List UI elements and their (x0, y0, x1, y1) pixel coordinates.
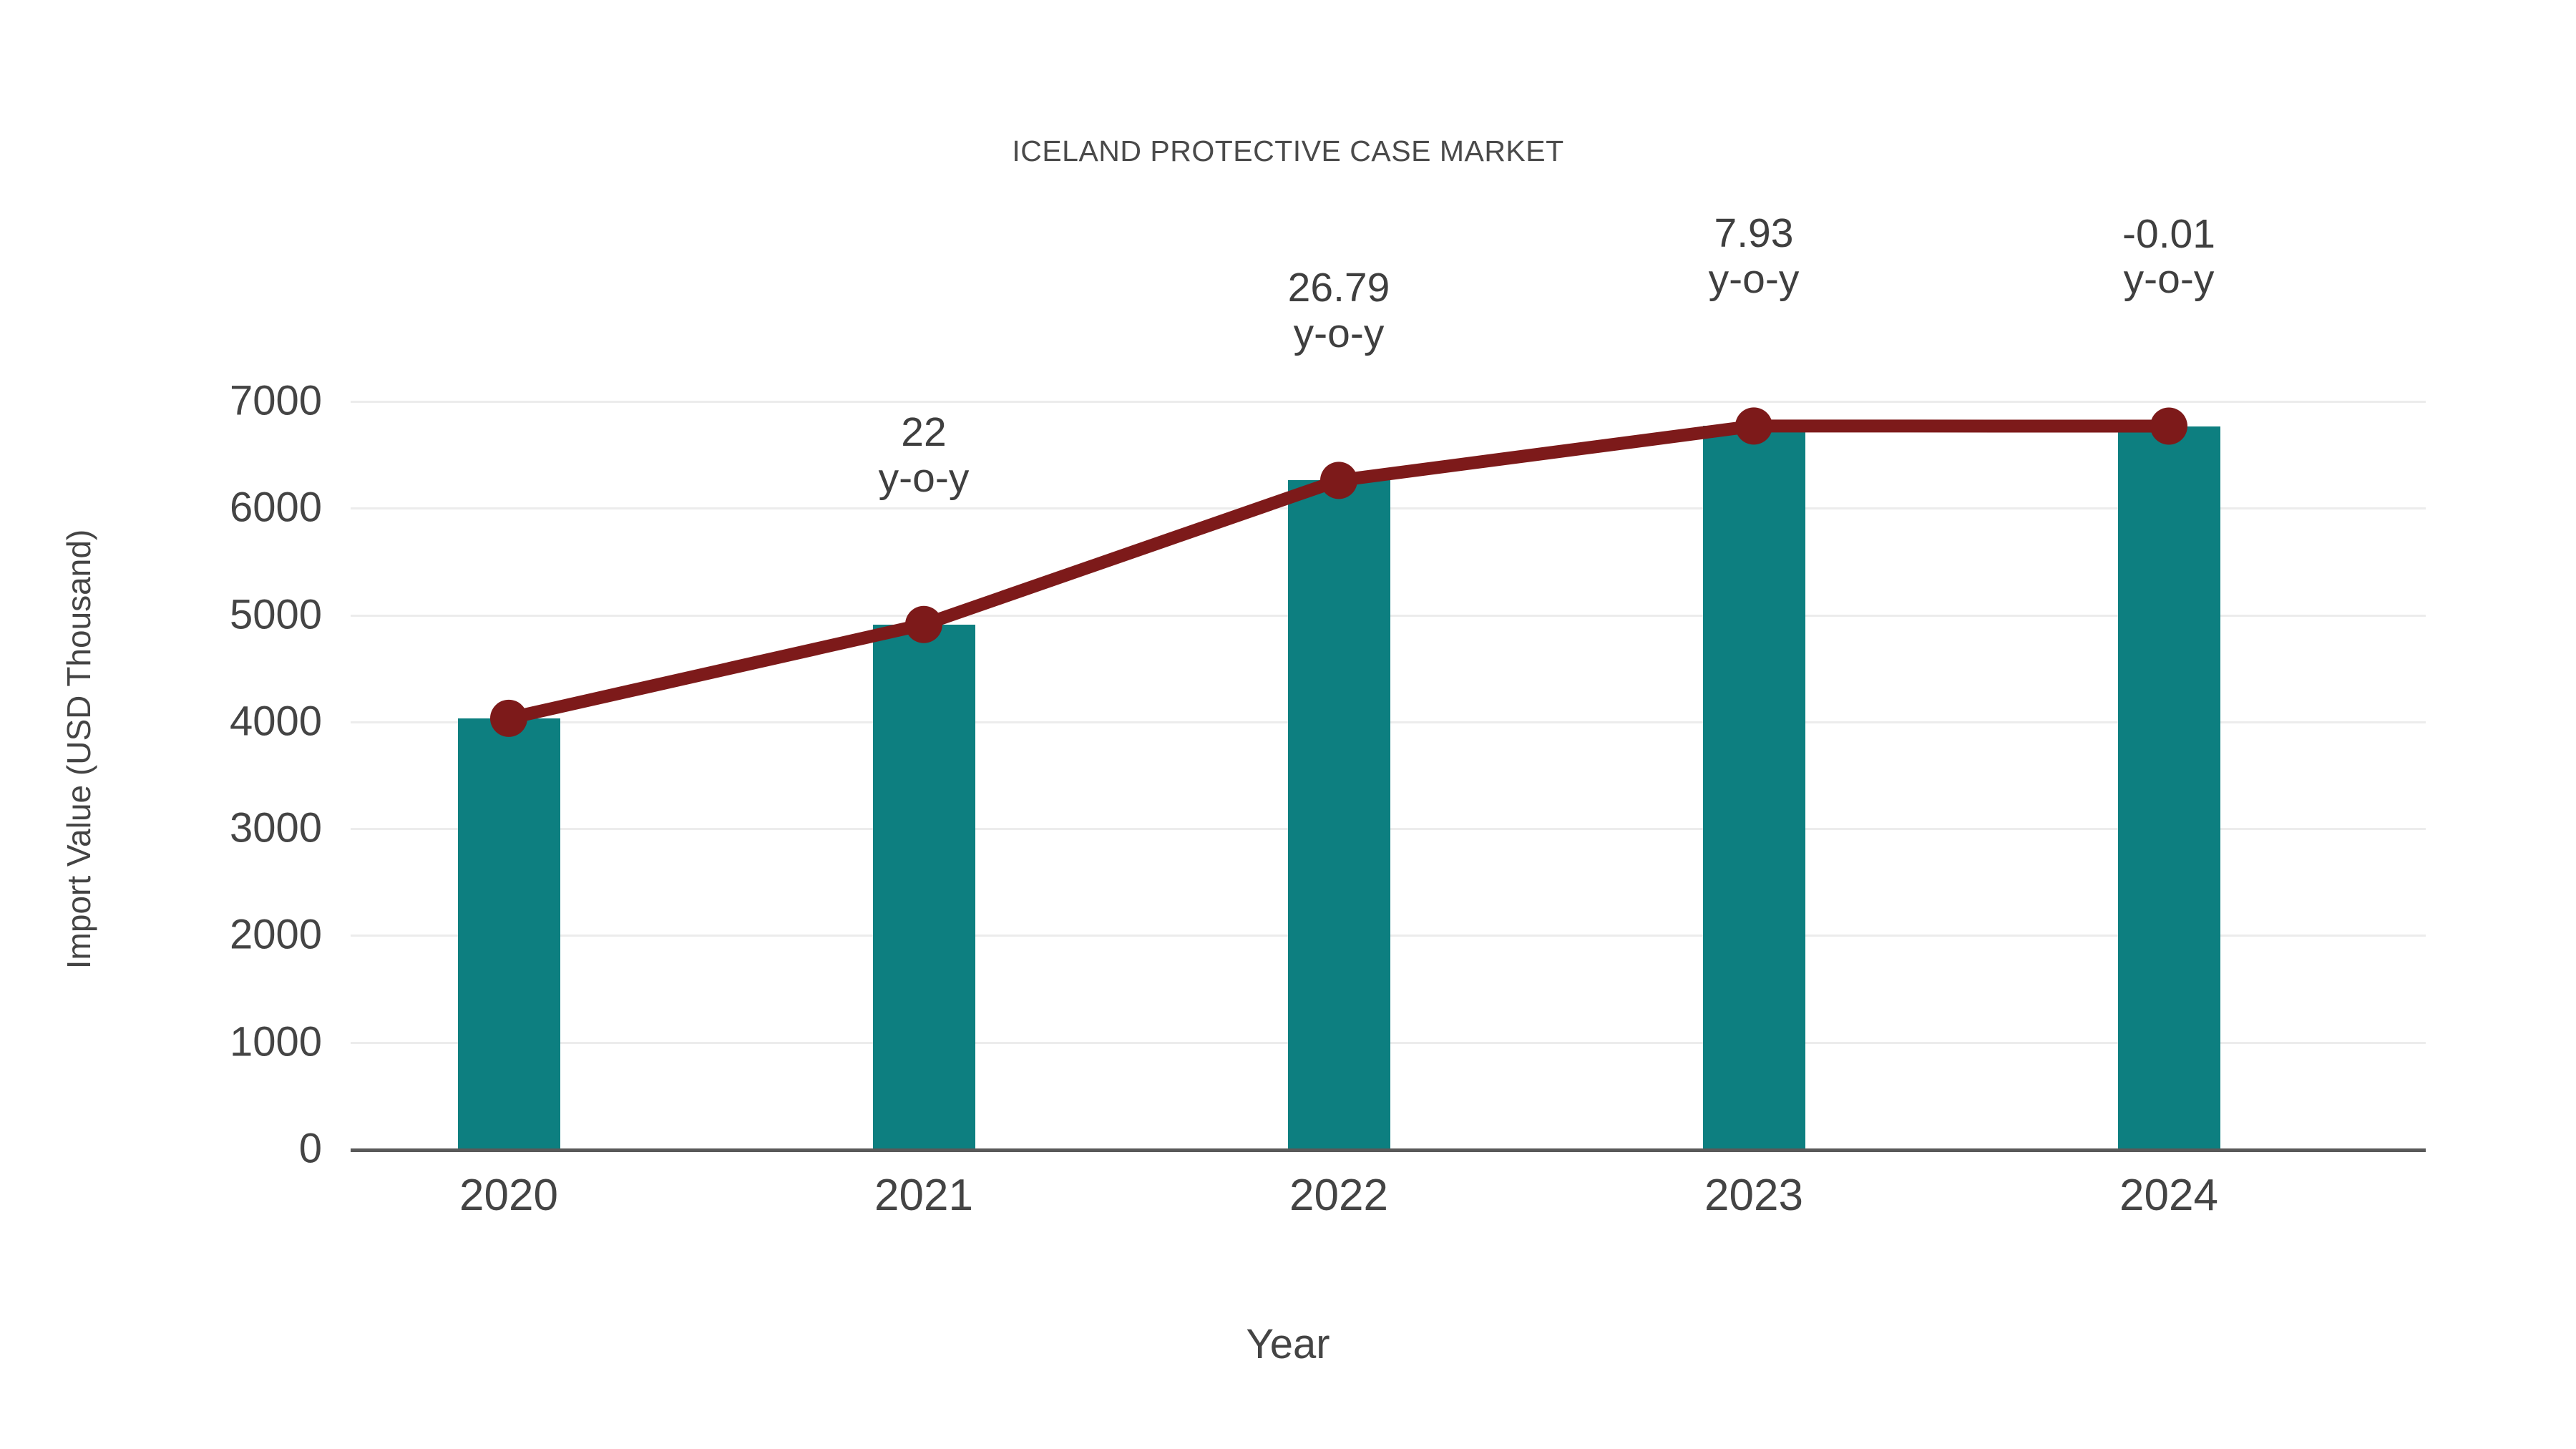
bar-2022[interactable] (1288, 480, 1390, 1148)
bar-2020[interactable] (458, 718, 560, 1148)
y-tick-label: 0 (21, 1125, 322, 1173)
annotation-value: 26.79 (1189, 265, 1489, 311)
bar-2021[interactable] (873, 625, 975, 1148)
annotation-unit: y-o-y (1189, 311, 1489, 357)
gridline (351, 401, 2426, 403)
annotation-2024: -0.01y-o-y (2019, 212, 2319, 303)
bar-2024[interactable] (2118, 426, 2220, 1148)
x-tick-label-2022: 2022 (1196, 1170, 1482, 1221)
y-tick-label: 3000 (21, 804, 322, 852)
x-axis-title: Year (0, 1320, 2576, 1368)
plot-area (351, 401, 2426, 1148)
annotation-value: 7.93 (1604, 211, 1904, 257)
y-tick-label: 2000 (21, 911, 322, 959)
annotation-value: 22 (774, 410, 1074, 456)
annotation-unit: y-o-y (2019, 257, 2319, 303)
bar-2023[interactable] (1703, 426, 1805, 1148)
x-tick-label-2024: 2024 (2026, 1170, 2312, 1221)
y-tick-label: 6000 (21, 484, 322, 532)
x-tick-label-2021: 2021 (781, 1170, 1067, 1221)
annotation-value: -0.01 (2019, 212, 2319, 258)
y-tick-label: 7000 (21, 377, 322, 425)
annotation-2022: 26.79y-o-y (1189, 265, 1489, 357)
y-tick-label: 5000 (21, 590, 322, 638)
chart-title: ICELAND PROTECTIVE CASE MARKET (0, 135, 2576, 168)
y-tick-label: 1000 (21, 1018, 322, 1065)
x-tick-label-2020: 2020 (366, 1170, 652, 1221)
x-tick-label-2023: 2023 (1611, 1170, 1897, 1221)
chart-container: ICELAND PROTECTIVE CASE MARKET Import Va… (0, 0, 2576, 1449)
annotation-unit: y-o-y (1604, 257, 1904, 303)
y-tick-label: 4000 (21, 697, 322, 745)
annotation-unit: y-o-y (774, 456, 1074, 502)
annotation-2023: 7.93y-o-y (1604, 211, 1904, 303)
annotation-2021: 22y-o-y (774, 410, 1074, 502)
x-axis-line (351, 1148, 2426, 1152)
